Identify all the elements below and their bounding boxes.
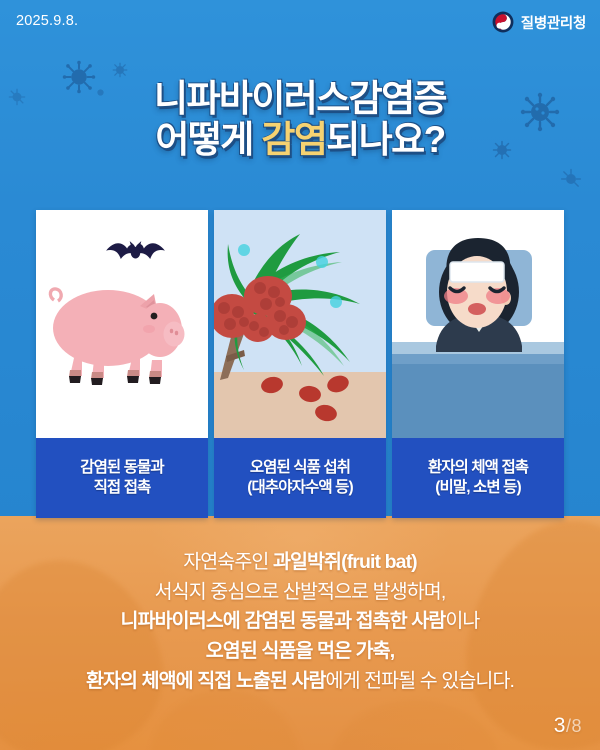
description-line-2: 서식지 중심으로 산발적으로 발생하며, xyxy=(0,578,600,608)
panel-caption: 환자의 체액 접촉 (비말, 소변 등) xyxy=(392,438,564,518)
caption-line-2: 직접 접촉 xyxy=(80,478,164,498)
sick-patient-illustration xyxy=(392,210,564,438)
panel-animal-contact: 감염된 동물과 직접 접촉 xyxy=(36,210,208,518)
description-line-3: 니파바이러스에 감염된 동물과 접촉한 사람이나 xyxy=(0,607,600,637)
description-line-3-bold: 니파바이러스에 감염된 동물과 접촉한 사람 xyxy=(121,610,446,632)
page-current: 3 xyxy=(554,714,566,737)
page-total: /8 xyxy=(566,716,582,736)
date-palm-illustration xyxy=(214,210,386,438)
description-line-5: 환자의 체액에 직접 노출된 사람에게 전파될 수 있습니다. xyxy=(0,667,600,697)
description-text: 자연숙주인 과일박쥐(fruit bat) 서식지 중심으로 산발적으로 발생하… xyxy=(0,548,600,696)
title-line-2: 어떻게 감염되나요? xyxy=(0,119,600,160)
infographic-card: 2025.9.8. 질병관리청 니파바이러스감염증 어떻게 감염되나요? xyxy=(0,0,600,750)
description-line-3-thin: 이나 xyxy=(445,610,479,632)
taegeuk-logo-icon xyxy=(492,11,514,33)
description-line-1: 자연숙주인 과일박쥐(fruit bat) xyxy=(0,548,600,578)
caption-line-1: 환자의 체액 접촉 xyxy=(428,458,528,478)
agency-brand: 질병관리청 xyxy=(492,11,586,33)
description-line-4-bold: 오염된 식품을 먹은 가축, xyxy=(206,640,394,662)
description-line-5-thin: 에게 전파될 수 있습니다. xyxy=(326,670,514,692)
caption-line-2: (비말, 소변 등) xyxy=(428,478,528,498)
panel-caption: 오염된 식품 섭취 (대추야자수액 등) xyxy=(214,438,386,518)
agency-name: 질병관리청 xyxy=(521,12,586,33)
pig-and-bat-illustration xyxy=(36,210,208,438)
transmission-panels: 감염된 동물과 직접 접촉 xyxy=(36,210,564,518)
date-palm-tree-icon xyxy=(214,210,386,438)
caption-line-1: 오염된 식품 섭취 xyxy=(247,458,352,478)
title-line-2-after: 되나요? xyxy=(326,119,444,160)
panel-contaminated-food: 오염된 식품 섭취 (대추야자수액 등) xyxy=(214,210,386,518)
panel-patient-fluids: 환자의 체액 접촉 (비말, 소변 등) xyxy=(392,210,564,518)
description-line-1-thin: 자연숙주인 xyxy=(183,551,273,573)
title-highlight: 감염 xyxy=(261,119,326,160)
top-bar: 2025.9.8. 질병관리청 xyxy=(0,0,600,48)
panel-caption: 감염된 동물과 직접 접촉 xyxy=(36,438,208,518)
description-line-4: 오염된 식품을 먹은 가축, xyxy=(0,637,600,667)
publish-date: 2025.9.8. xyxy=(16,13,78,29)
caption-line-1: 감염된 동물과 xyxy=(80,458,164,478)
caption-line-2: (대추야자수액 등) xyxy=(247,478,352,498)
title-line-2-before: 어떻게 xyxy=(155,119,261,160)
description-line-1-bold: 과일박쥐(fruit bat) xyxy=(273,551,417,573)
page-title: 니파바이러스감염증 어떻게 감염되나요? xyxy=(0,78,600,161)
description-line-5-bold: 환자의 체액에 직접 노출된 사람 xyxy=(86,670,326,692)
pig-and-bat-icon xyxy=(36,210,208,438)
description-line-2-text: 서식지 중심으로 산발적으로 발생하며, xyxy=(155,581,446,603)
page-indicator: 3/8 xyxy=(554,714,582,738)
title-line-1: 니파바이러스감염증 xyxy=(0,78,600,119)
sick-patient-in-bed-icon xyxy=(392,210,564,438)
